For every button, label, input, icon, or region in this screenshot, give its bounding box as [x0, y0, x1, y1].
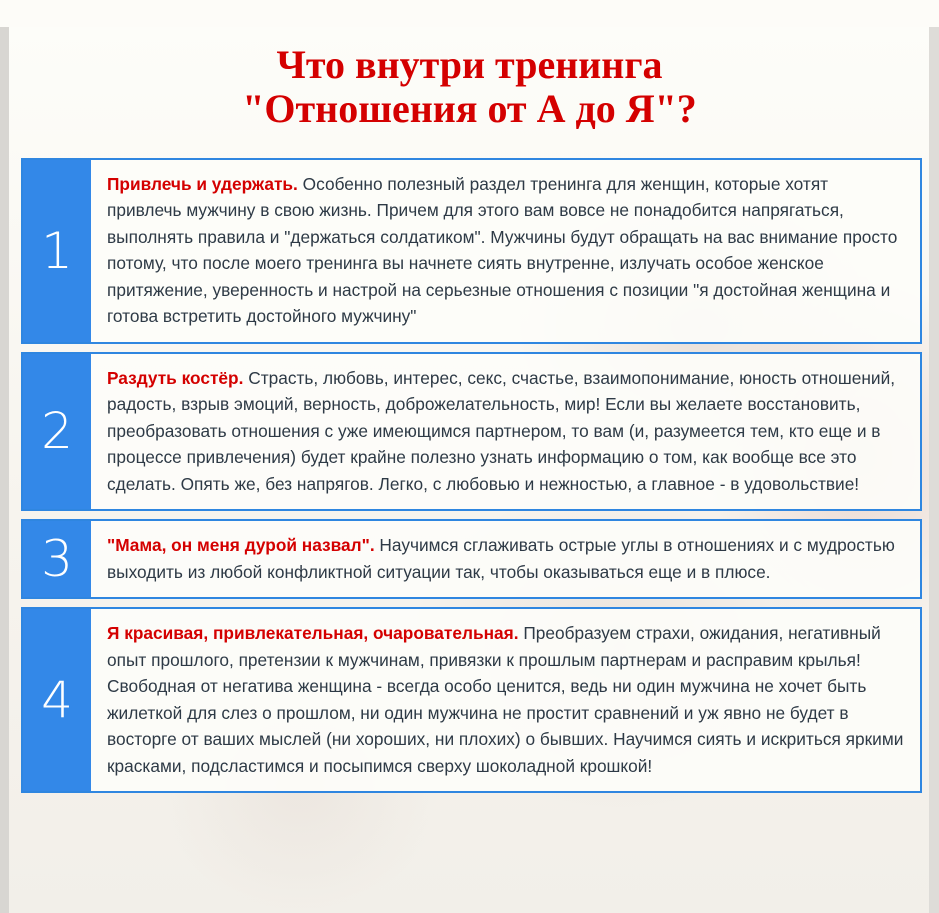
left-page-margin: [0, 27, 9, 913]
section-number: 1: [23, 160, 91, 342]
section-lead-in: Я красивая, привлекательная, очарователь…: [107, 623, 519, 643]
section-number: 3: [23, 521, 91, 597]
section-text: Преобразуем страхи, ожидания, негативный…: [107, 623, 903, 776]
section-body: "Мама, он меня дурой назвал". Научимся с…: [91, 521, 920, 597]
section-body: Раздуть костёр. Страсть, любовь, интерес…: [91, 354, 920, 510]
slide-page: Что внутри тренинга "Отношения от А до Я…: [0, 27, 939, 913]
section-text: Особенно полезный раздел тренинга для же…: [107, 174, 897, 327]
section-lead-in: "Мама, он меня дурой назвал".: [107, 535, 375, 555]
section-lead-in: Раздуть костёр.: [107, 368, 243, 388]
numbered-section: 1Привлечь и удержать. Особенно полезный …: [21, 158, 922, 344]
section-number: 2: [23, 354, 91, 510]
numbered-sections-list: 1Привлечь и удержать. Особенно полезный …: [21, 158, 922, 794]
section-body: Я красивая, привлекательная, очарователь…: [91, 609, 920, 791]
section-body: Привлечь и удержать. Особенно полезный р…: [91, 160, 920, 342]
numbered-section: 4Я красивая, привлекательная, очаровател…: [21, 607, 922, 793]
section-number: 4: [23, 609, 91, 791]
numbered-section: 2Раздуть костёр. Страсть, любовь, интере…: [21, 352, 922, 512]
right-page-margin: [929, 27, 939, 913]
numbered-section: 3"Мама, он меня дурой назвал". Научимся …: [21, 519, 922, 599]
section-lead-in: Привлечь и удержать.: [107, 174, 298, 194]
page-title: Что внутри тренинга "Отношения от А до Я…: [0, 27, 939, 131]
